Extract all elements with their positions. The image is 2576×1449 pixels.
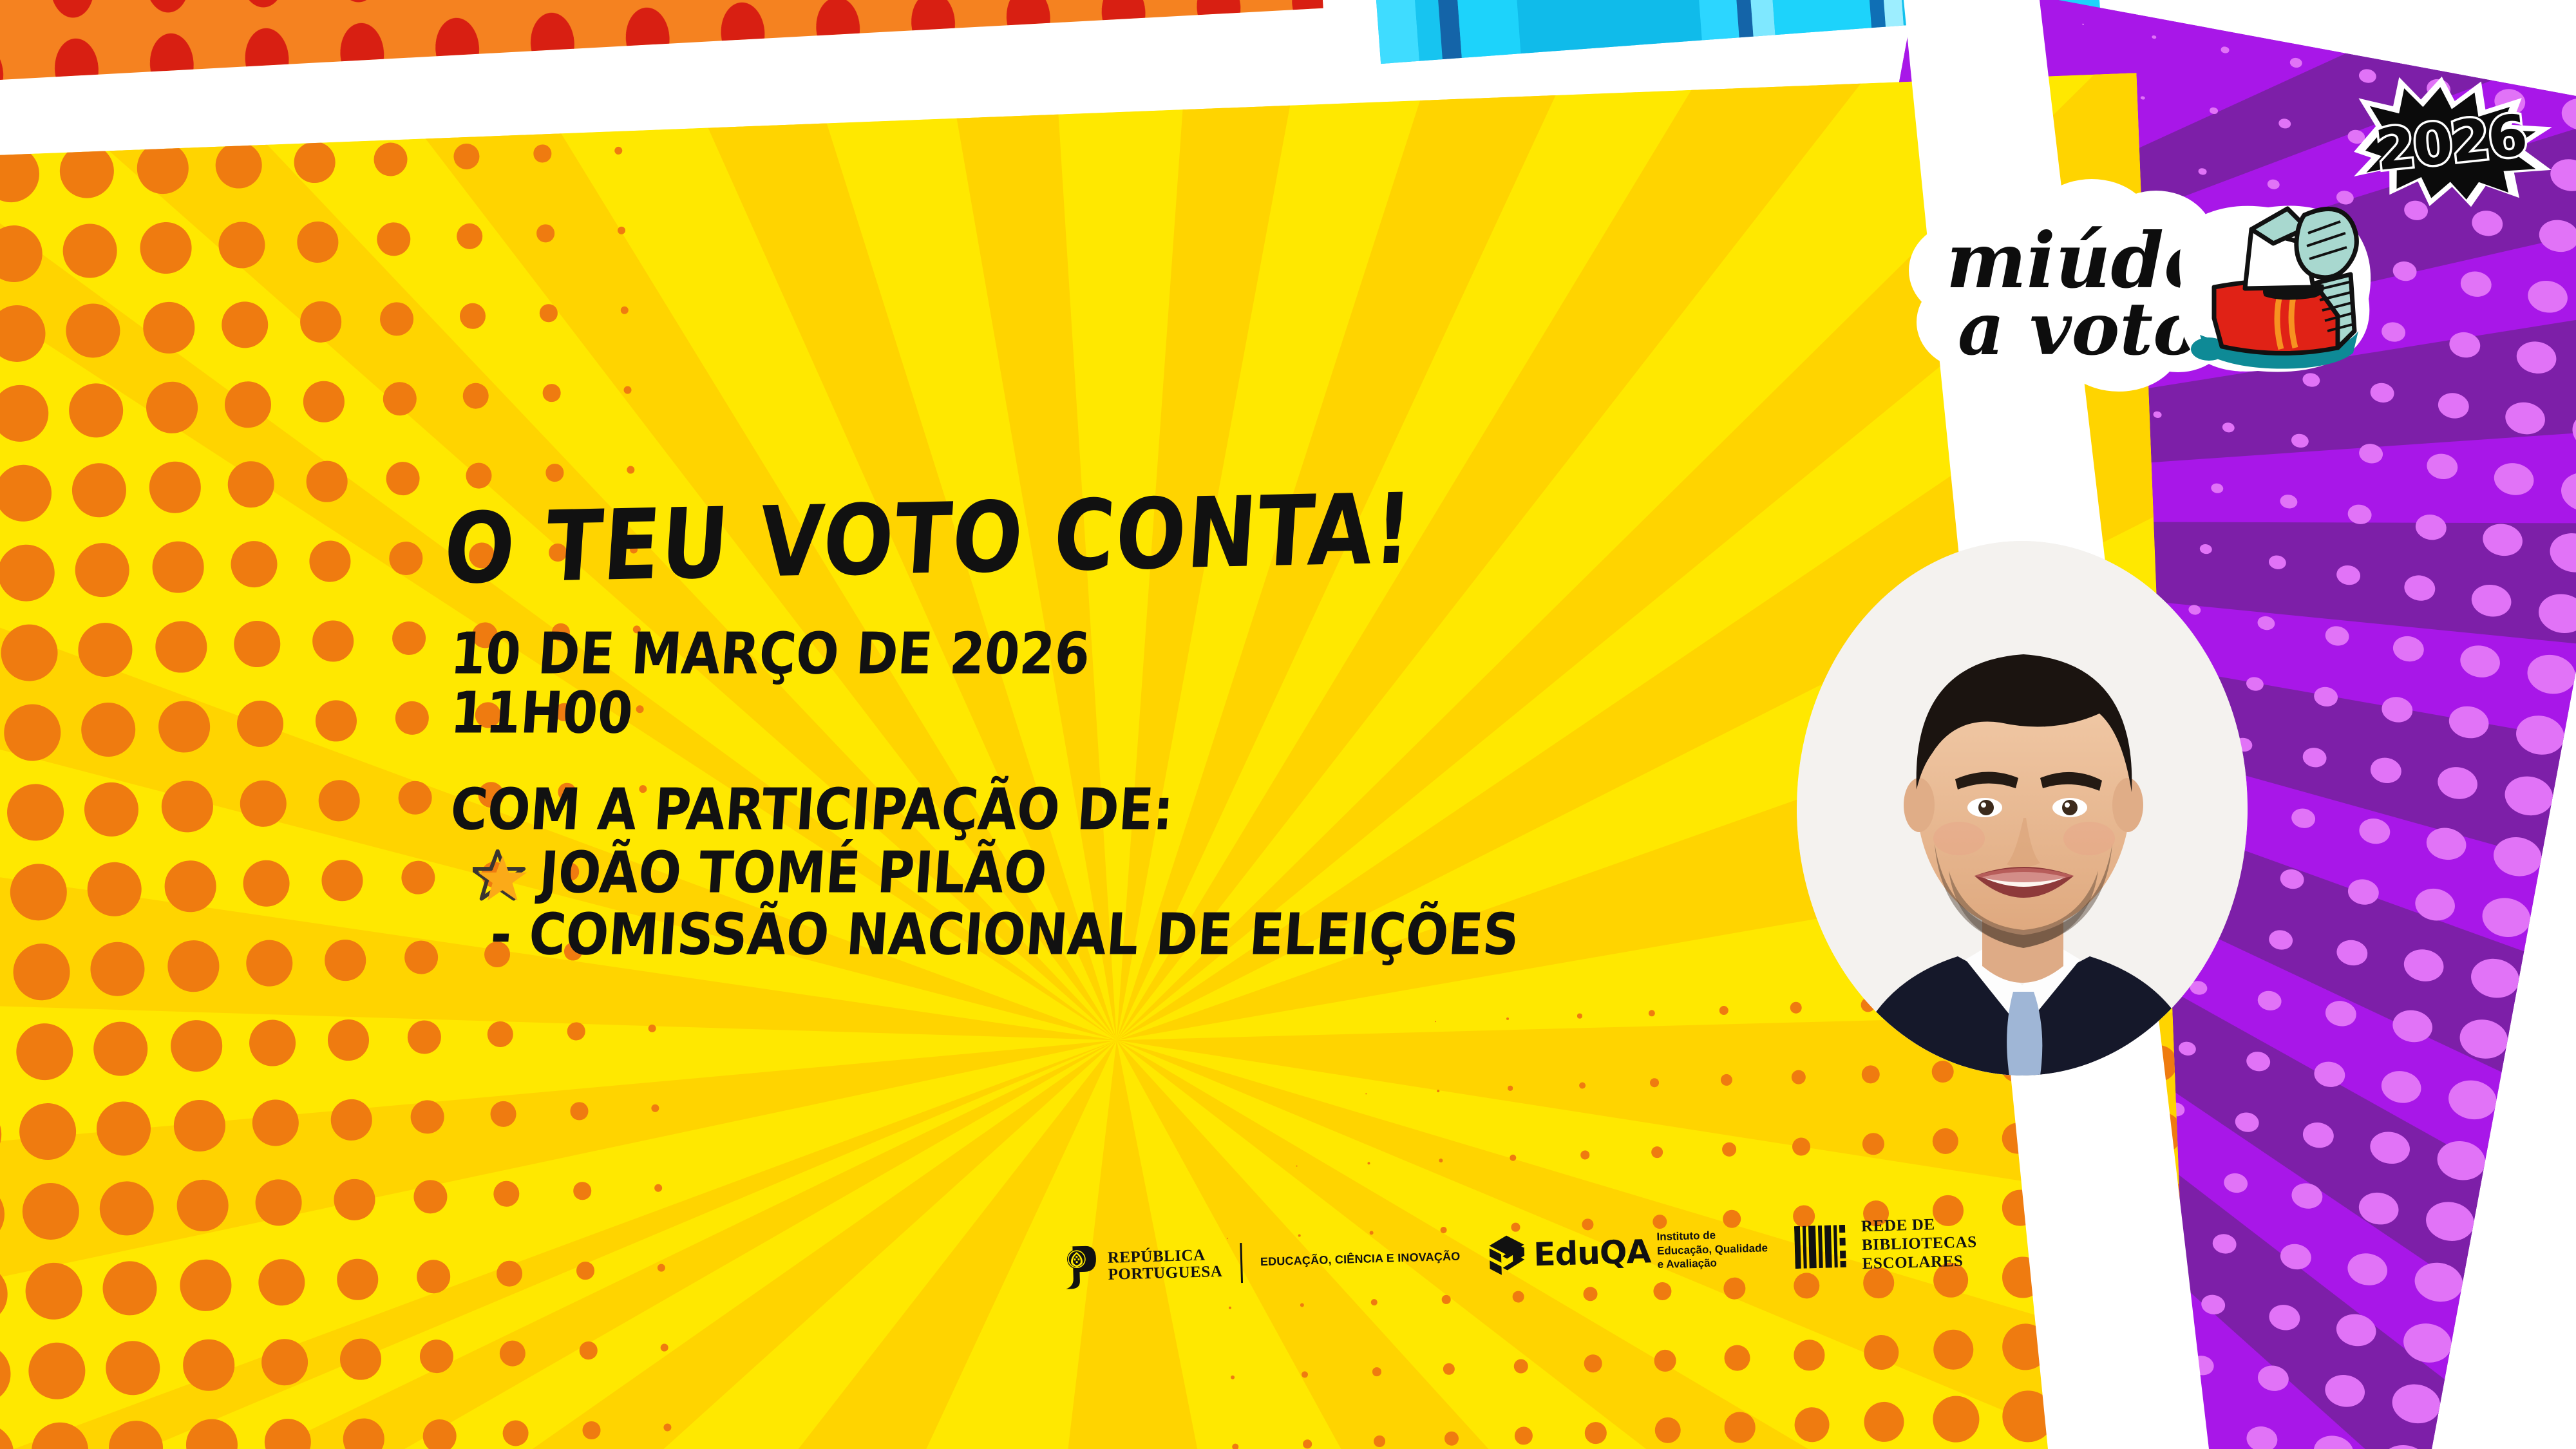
halftone-dot <box>1933 1329 1975 1370</box>
halftone-dot <box>1583 1287 1598 1302</box>
halftone-dot <box>453 143 480 170</box>
halftone-dot <box>2324 998 2359 1028</box>
halftone-dot <box>258 1258 306 1307</box>
halftone-dot <box>2379 1068 2423 1106</box>
decorative-orange-dot-panel <box>0 0 1323 84</box>
halftone-dot <box>1510 1155 1516 1161</box>
halftone-dot <box>2256 1363 2291 1394</box>
halftone-dot <box>0 623 59 683</box>
halftone-dot <box>68 382 124 439</box>
halftone-dot <box>2345 1250 2389 1288</box>
halftone-dot <box>312 620 354 663</box>
republica-tagline: EDUCAÇÃO, CIÊNCIA E INOVAÇÃO <box>1260 1250 1461 1269</box>
halftone-dot <box>2267 1302 2302 1332</box>
halftone-dot <box>158 700 211 753</box>
halftone-dot <box>27 1341 86 1401</box>
halftone-dot <box>456 223 483 250</box>
halftone-dot <box>496 1260 523 1287</box>
halftone-dot <box>648 1025 656 1033</box>
halftone-dot <box>618 227 626 235</box>
halftone-dot <box>416 1259 451 1294</box>
halftone-dot <box>394 700 430 735</box>
halftone-dot <box>2501 772 2557 819</box>
halftone-dot <box>576 1262 594 1280</box>
halftone-dot <box>1577 1014 1582 1018</box>
event-date: 10 DE MARÇO DE 2026 <box>448 621 1805 688</box>
eduqa-subtitle: Instituto de Educação, Qualidade e Avali… <box>1656 1227 1768 1272</box>
halftone-dot <box>1371 1299 1378 1305</box>
halftone-dot <box>263 1418 312 1449</box>
halftone-dot <box>64 302 121 359</box>
halftone-dot <box>2188 1354 2215 1377</box>
halftone-dot <box>2346 876 2382 907</box>
halftone-dot <box>2278 867 2306 891</box>
halftone-dot <box>1439 1158 1443 1162</box>
halftone-dot <box>1794 1406 1830 1443</box>
halftone-dot <box>573 1182 591 1200</box>
participation-block: COM A PARTICIPAÇÃO DE: JOÃO TOMÉ PILÃO -… <box>451 781 1803 965</box>
halftone-dot <box>21 1182 80 1241</box>
halftone-dot <box>6 782 65 842</box>
republica-shield-icon <box>1062 1243 1099 1292</box>
halftone-dot <box>2402 573 2438 603</box>
halftone-dot <box>2268 554 2287 571</box>
halftone-dot <box>2222 1171 2249 1195</box>
halftone-dot <box>2082 23 2084 25</box>
halftone-dot <box>2546 529 2576 576</box>
halftone-dot <box>570 1102 588 1120</box>
halftone-dot <box>299 301 342 343</box>
halftone-dot <box>1374 1435 1385 1447</box>
halftone-dot <box>74 542 131 598</box>
halftone-dot <box>2492 460 2536 498</box>
halftone-dot <box>2070 1317 2125 1371</box>
halftone-dot <box>422 1419 457 1449</box>
halftone-dot <box>1231 1375 1235 1379</box>
speaker-row: JOÃO TOMÉ PILÃO <box>473 844 1803 903</box>
halftone-dot <box>230 540 278 589</box>
halftone-dot <box>2324 624 2351 647</box>
halftone-dot <box>1863 1334 1900 1371</box>
halftone-dot <box>1654 1417 1681 1444</box>
halftone-dot <box>2322 1372 2367 1410</box>
halftone-dot <box>542 384 560 402</box>
halftone-dot <box>161 780 214 833</box>
halftone-dot <box>2311 1433 2356 1449</box>
halftone-dot <box>2221 46 2230 54</box>
halftone-dot <box>1443 1363 1455 1375</box>
halftone-dot <box>2153 411 2162 419</box>
halftone-dot <box>318 779 361 822</box>
halftone-dot <box>2411 1258 2467 1305</box>
halftone-dot <box>1654 1349 1676 1372</box>
halftone-dot <box>343 1418 385 1449</box>
rbe-line-3: ESCOLARES <box>1862 1251 1978 1273</box>
halftone-dot <box>620 306 629 314</box>
speaker-portrait-photo <box>1797 541 2248 1075</box>
halftone-dot <box>2244 1424 2280 1449</box>
halftone-dot <box>83 781 140 838</box>
halftone-dot <box>502 1419 529 1446</box>
speaker-name: JOÃO TOMÉ PILÃO <box>537 840 1049 907</box>
halftone-dot <box>15 1022 74 1081</box>
halftone-dot <box>236 700 285 748</box>
halftone-dot <box>315 700 357 743</box>
halftone-dot <box>2256 989 2283 1012</box>
halftone-dot <box>2514 338 2559 376</box>
halftone-dot <box>1367 1162 1370 1165</box>
halftone-dot <box>2289 57 2303 69</box>
halftone-dot <box>1721 1074 1733 1086</box>
halftone-dot <box>2537 217 2576 255</box>
halftone-dot <box>261 1338 309 1387</box>
halftone-dot <box>142 301 195 354</box>
halftone-dot <box>2313 685 2340 708</box>
halftone-dot <box>1444 1431 1459 1446</box>
halftone-dot <box>540 304 558 322</box>
halftone-dot <box>2524 650 2576 697</box>
halftone-dot <box>1513 1359 1528 1374</box>
halftone-dot <box>382 381 417 417</box>
halftone-dot <box>2290 432 2310 449</box>
halftone-dot <box>2480 521 2524 559</box>
halftone-dot <box>1506 1018 1510 1021</box>
halftone-dot <box>0 1343 12 1405</box>
halftone-dot <box>2002 1122 2033 1154</box>
halftone-dot <box>2278 1242 2314 1272</box>
halftone-dot <box>0 1423 15 1449</box>
halftone-dot <box>339 1338 382 1381</box>
halftone-dot <box>249 1019 297 1067</box>
halftone-dot <box>1302 1371 1308 1378</box>
halftone-dot <box>2435 764 2479 802</box>
star-icon <box>473 849 528 905</box>
halftone-dot <box>59 143 115 200</box>
halftone-dot <box>297 221 339 263</box>
halftone-dot <box>2358 442 2385 465</box>
halftone-dot <box>406 1019 442 1055</box>
halftone-dot <box>1653 1282 1672 1301</box>
halftone-dot <box>95 1101 152 1157</box>
halftone-dot <box>1719 1006 1728 1015</box>
halftone-dot <box>77 621 133 678</box>
halftone-dot <box>373 142 408 177</box>
halftone-dot <box>321 859 364 902</box>
halftone-dot <box>1365 1093 1367 1095</box>
halftone-dot <box>2525 278 2570 316</box>
halftone-dot <box>309 540 352 583</box>
halftone-dot <box>1579 1082 1586 1089</box>
halftone-dot <box>1303 1439 1312 1448</box>
halftone-dot <box>1723 1277 1746 1300</box>
halftone-dot <box>385 461 421 497</box>
halftone-dot <box>155 620 207 673</box>
halftone-dot <box>376 222 412 257</box>
halftone-dot <box>0 544 56 603</box>
halftone-dot <box>2412 885 2457 923</box>
halftone-dot <box>533 144 551 162</box>
halftone-dot <box>2278 118 2291 129</box>
halftone-dot <box>80 701 137 758</box>
halftone-dot <box>1508 1086 1513 1090</box>
halftone-dot <box>182 1339 235 1392</box>
halftone-dot <box>233 620 281 668</box>
halftone-dot <box>2390 1007 2434 1045</box>
halftone-dot <box>254 1179 303 1227</box>
halftone-dot <box>654 1184 663 1192</box>
rbe-wordmark: REDE DE BIBLIOTECAS ESCOLARES <box>1861 1214 1978 1273</box>
halftone-dot <box>2071 1251 2119 1299</box>
page-title: O TEU VOTO CONTA! <box>441 473 1808 598</box>
halftone-dot <box>2414 512 2449 542</box>
halftone-dot <box>330 1099 373 1141</box>
halftone-dot <box>242 859 290 907</box>
halftone-dot <box>0 1264 8 1325</box>
halftone-dot <box>2289 1180 2325 1211</box>
halftone-dot <box>2469 582 2514 620</box>
halftone-dot <box>499 1340 526 1367</box>
halftone-dot <box>2256 614 2276 631</box>
republica-line-2: PORTUGUESA <box>1108 1263 1222 1282</box>
halftone-dot <box>89 941 146 998</box>
halftone-dot <box>176 1179 229 1232</box>
halftone-dot <box>658 1264 666 1272</box>
halftone-dot <box>1580 1150 1589 1159</box>
halftone-dot <box>1650 1078 1659 1087</box>
halftone-dot <box>1792 1137 1810 1156</box>
eduqa-sub-3: e Avaliação <box>1657 1255 1768 1273</box>
halftone-dot <box>1512 1291 1524 1302</box>
halftone-dot <box>2152 35 2157 39</box>
halftone-dot <box>2141 1380 2191 1442</box>
halftone-dot <box>2389 1380 2444 1427</box>
halftone-dot <box>2245 676 2265 692</box>
halftone-dot <box>137 142 189 194</box>
year-burst-badge: 2026 <box>2338 60 2564 220</box>
halftone-dot <box>2447 330 2483 360</box>
halftone-dot <box>324 939 366 981</box>
halftone-dot <box>62 223 118 279</box>
halftone-dot <box>1721 1142 1737 1157</box>
halftone-dot <box>651 1104 659 1113</box>
halftone-dot <box>1300 1303 1304 1307</box>
halftone-dot <box>1584 1354 1602 1373</box>
halftone-dot <box>623 386 632 394</box>
event-datetime-block: 10 DE MARÇO DE 2026 11H00 <box>451 625 1803 743</box>
halftone-dot <box>2002 1323 2049 1370</box>
halftone-dot <box>2356 1189 2401 1227</box>
halftone-dot <box>2470 208 2505 238</box>
halftone-dot <box>404 940 439 975</box>
halftone-dot <box>1724 1345 1751 1372</box>
halftone-dot <box>489 1101 516 1128</box>
halftone-dot <box>71 462 128 518</box>
halftone-dot <box>2436 390 2472 421</box>
poster-canvas: O TEU VOTO CONTA! 10 DE MARÇO DE 2026 11… <box>0 0 2576 1449</box>
halftone-dot <box>663 1423 672 1432</box>
halftone-dot <box>173 1099 226 1152</box>
halftone-dot <box>2357 816 2392 846</box>
halftone-dot <box>218 221 266 269</box>
halftone-dot <box>2002 1256 2043 1298</box>
halftone-dot <box>2268 928 2295 951</box>
halftone-dot <box>167 940 220 992</box>
halftone-dot <box>239 779 287 828</box>
halftone-dot <box>2391 260 2418 283</box>
halftone-dot <box>2335 563 2362 587</box>
halftone-dot <box>580 1341 598 1359</box>
halftone-dot <box>1794 1340 1825 1371</box>
halftone-dot <box>245 939 294 987</box>
event-time: 11H00 <box>448 680 1805 748</box>
halftone-dot <box>2490 833 2546 880</box>
halftone-dot <box>2245 1050 2272 1073</box>
halftone-dot <box>2211 1232 2238 1255</box>
halftone-dot <box>104 1340 161 1396</box>
halftone-dot <box>413 1179 448 1215</box>
logo-republica-portuguesa: REPÚBLICA PORTUGUESA EDUCAÇÃO, CIÊNCIA E… <box>1062 1233 1461 1291</box>
halftone-dot <box>462 382 489 409</box>
halftone-dot <box>221 301 269 349</box>
halftone-dot <box>224 381 272 429</box>
halftone-dot <box>164 860 217 913</box>
eduqa-cube-icon <box>1486 1233 1528 1277</box>
halftone-dot <box>379 301 415 337</box>
halftone-dot <box>567 1022 585 1040</box>
halftone-dot <box>410 1099 445 1135</box>
halftone-dot <box>2290 807 2317 830</box>
halftone-dot <box>2369 755 2404 786</box>
halftone-dot <box>2558 468 2576 515</box>
miudos-a-votos-logo: miúdos a votos <box>1887 161 2376 406</box>
halftone-dot <box>1435 1021 1437 1023</box>
halftone-dot <box>151 541 204 594</box>
halftone-dot <box>303 381 345 423</box>
halftone-dot <box>397 780 433 815</box>
halftone-dot <box>86 861 143 918</box>
halftone-dot <box>2139 1311 2191 1372</box>
halftone-dot <box>388 541 424 576</box>
halftone-dot <box>1584 1422 1607 1444</box>
halftone-dot <box>2312 1059 2347 1090</box>
halftone-dot <box>0 304 47 363</box>
halftone-dot <box>2301 1120 2336 1150</box>
halftone-dot <box>227 460 275 509</box>
halftone-dot <box>2367 1129 2412 1167</box>
halftone-dot <box>99 1180 155 1236</box>
halftone-dot <box>2140 96 2145 100</box>
halftone-dot <box>179 1259 232 1312</box>
halftone-dot <box>2071 1117 2108 1154</box>
halftone-dot <box>2400 1320 2456 1367</box>
halftone-dot <box>1724 1412 1756 1443</box>
logo-rbe: REDE DE BIBLIOTECAS ESCOLARES <box>1794 1214 1978 1275</box>
halftone-dot <box>2468 954 2523 1001</box>
halftone-dot <box>2503 399 2547 437</box>
halftone-dot <box>1515 1426 1533 1445</box>
halftone-dot <box>3 703 62 762</box>
halftone-dot <box>0 464 53 523</box>
halftone-dot <box>327 1019 370 1061</box>
halftone-dot <box>392 621 427 656</box>
halftone-dot <box>2459 269 2494 299</box>
halftone-dot <box>2334 938 2370 968</box>
halftone-dot <box>334 1179 376 1221</box>
halftone-dot <box>185 1419 238 1449</box>
halftone-dot <box>108 1419 164 1449</box>
halftone-dot <box>2559 95 2576 133</box>
halftone-dot <box>2434 1137 2489 1184</box>
halftone-dot <box>2401 946 2446 984</box>
halftone-dot <box>545 464 563 482</box>
halftone-dot <box>2479 894 2534 941</box>
halftone-dot <box>146 381 198 434</box>
halftone-dot <box>2424 825 2468 863</box>
halftone-dot <box>1296 1165 1298 1167</box>
halftone-dot <box>401 860 436 895</box>
halftone-dot <box>459 303 486 330</box>
halftone-dot <box>2380 321 2407 344</box>
halftone-dot <box>306 460 348 503</box>
halftone-dot <box>1932 1128 1959 1155</box>
halftone-dot <box>2378 1441 2433 1449</box>
halftone-dot <box>1649 1010 1656 1017</box>
halftone-dot <box>1232 1444 1238 1449</box>
halftone-dot <box>2425 451 2460 482</box>
speaker-organisation: - COMISSÃO NACIONAL DE ELEIÇÕES <box>488 902 1805 969</box>
halftone-dot <box>2458 642 2502 680</box>
halftone-dot <box>2456 1016 2512 1063</box>
halftone-dot <box>2233 1111 2260 1134</box>
halftone-dot <box>2141 1112 2183 1154</box>
halftone-dot <box>0 384 50 443</box>
poster-copy-block: O TEU VOTO CONTA! 10 DE MARÇO DE 2026 11… <box>451 509 1803 965</box>
participation-label: COM A PARTICIPAÇÃO DE: <box>448 777 1805 844</box>
halftone-dot <box>214 141 263 189</box>
halftone-dot <box>1862 1133 1884 1155</box>
halftone-dot <box>614 147 623 155</box>
halftone-dot <box>0 224 44 283</box>
halftone-dot <box>30 1421 90 1449</box>
halftone-dot <box>1863 1401 1905 1443</box>
halftone-dot <box>2001 1389 2055 1443</box>
halftone-dot <box>2445 1076 2501 1123</box>
halftone-dot <box>149 461 202 514</box>
halftone-dot <box>102 1260 158 1316</box>
halftone-dot <box>660 1343 668 1352</box>
halftone-dot <box>9 862 68 922</box>
logo-eduqa: EduQA Instituto de Educação, Qualidade e… <box>1486 1227 1768 1277</box>
halftone-dot <box>1229 1307 1232 1310</box>
halftone-dot <box>2391 634 2427 664</box>
halftone-dot <box>2070 1383 2130 1444</box>
halftone-dot <box>2569 408 2576 455</box>
halftone-dot <box>2380 694 2415 724</box>
rbe-bars-icon <box>1794 1224 1855 1269</box>
halftone-dot <box>2210 107 2219 115</box>
halftone-dot <box>1932 1396 1980 1443</box>
halftone-dot <box>139 222 192 274</box>
halftone-dot <box>627 466 635 474</box>
halftone-dot <box>2222 422 2235 433</box>
halftone-dot <box>12 942 71 1001</box>
halftone-dot <box>1372 1367 1381 1376</box>
halftone-dot <box>2278 493 2298 510</box>
halftone-dot <box>0 1184 5 1245</box>
halftone-dot <box>465 462 492 489</box>
halftone-dot <box>536 224 554 242</box>
halftone-dot <box>2002 1189 2038 1226</box>
